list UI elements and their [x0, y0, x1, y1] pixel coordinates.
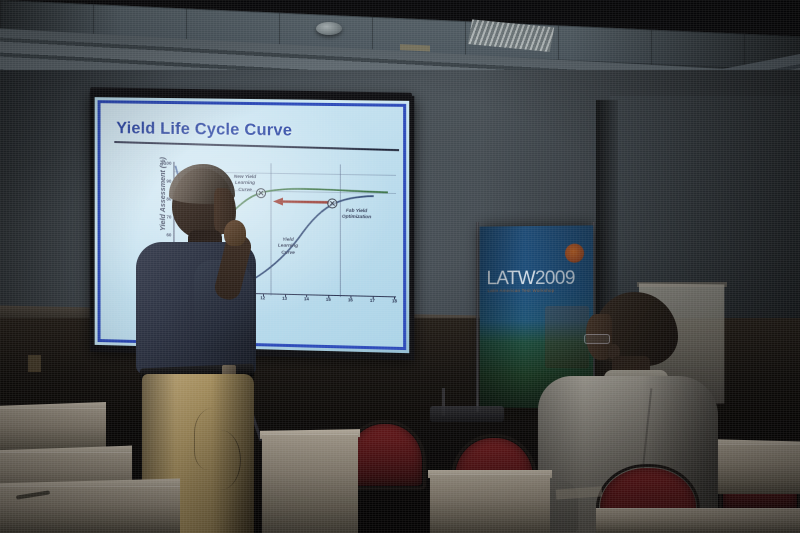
marker-fab-yield-point — [327, 198, 337, 208]
slide-title: Yield Life Cycle Curve — [116, 119, 292, 140]
av-device — [430, 406, 504, 422]
annotation-fab-yield-optimization: Fab Yield Optimization — [333, 209, 380, 223]
slide-title-rule — [114, 141, 399, 151]
annotation-yield-learning-curve: Yield Learning Curve — [269, 237, 307, 257]
presenter-hand — [224, 220, 246, 246]
skirted-table — [596, 508, 800, 533]
banner-stand-left — [476, 222, 479, 412]
skirted-table — [430, 474, 550, 533]
skirted-table — [262, 434, 358, 533]
attendee-glasses — [584, 334, 610, 344]
conference-room-photo: LATW2009 Latin American Test Workshop Yi… — [0, 0, 800, 533]
smoke-detector-icon — [316, 22, 342, 35]
improvement-arrow-icon — [273, 197, 329, 206]
wall-outlet-icon — [28, 355, 41, 372]
